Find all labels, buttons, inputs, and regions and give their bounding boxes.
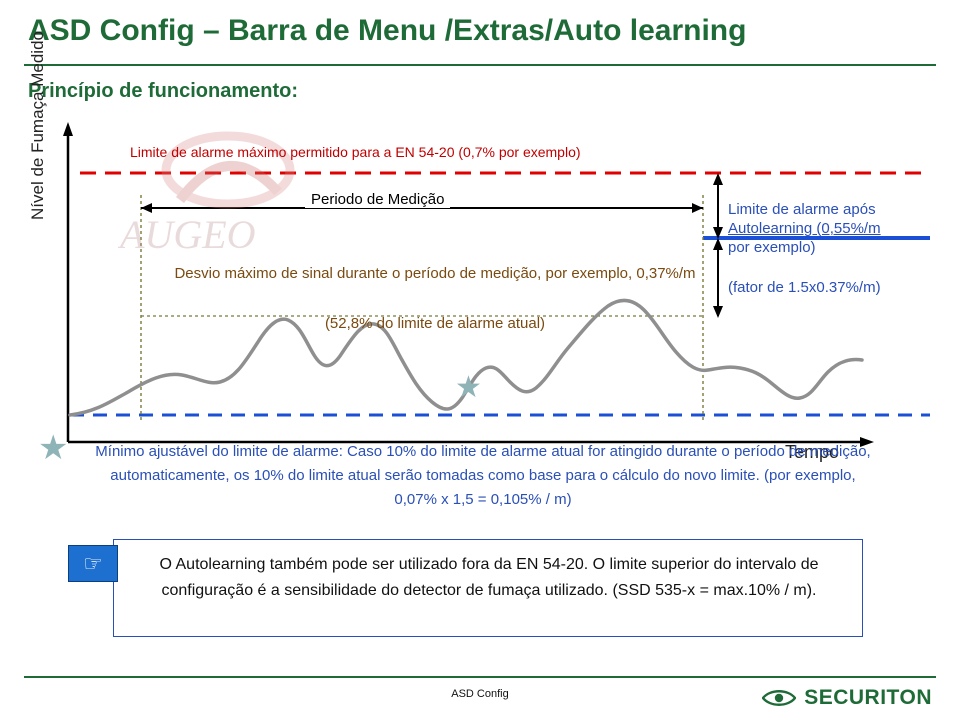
brand-logo: SECURITON xyxy=(762,686,932,710)
y-axis-label: Nível de Fumaça Medido xyxy=(28,0,48,220)
star-marker-icon: ★ xyxy=(455,373,482,403)
annotation-after-line2: Autolearning (0,55%/m xyxy=(728,220,881,237)
annotation-deviation-percent: (52,8% do limite de alarme atual) xyxy=(140,315,730,332)
annotation-max-deviation: Desvio máximo de sinal durante o período… xyxy=(140,263,730,284)
annotation-minimum-adjustable-limit: Mínimo ajustável do limite de alarme: Ca… xyxy=(88,440,878,512)
annotation-after-line3: por exemplo) xyxy=(728,239,816,256)
annotation-after-line1: Limite de alarme após xyxy=(728,201,876,218)
title-divider xyxy=(24,64,936,66)
star-legend-icon: ★ xyxy=(38,431,68,465)
pointing-hand-icon: ☞ xyxy=(68,545,118,582)
principle-diagram: AUGEO Nível de Fumaça Medido xyxy=(0,120,960,540)
annotation-limit-after-autolearning: Limite de alarme após Autolearning (0,55… xyxy=(728,200,881,257)
page-title: ASD Config – Barra de Menu /Extras/Auto … xyxy=(28,14,746,48)
annotation-max-alarm-limit: Limite de alarme máximo permitido para a… xyxy=(130,144,581,160)
section-subtitle: Princípio de funcionamento: xyxy=(28,80,298,103)
note-text: O Autolearning também pode ser utilizado… xyxy=(139,552,839,604)
annotation-measurement-period: Periodo de Medição xyxy=(305,191,450,208)
eye-icon xyxy=(762,688,796,708)
brand-name: SECURITON xyxy=(804,686,932,710)
annotation-factor: (fator de 1.5x0.37%/m) xyxy=(728,279,881,296)
note-box: O Autolearning também pode ser utilizado… xyxy=(113,539,863,637)
footer-divider xyxy=(24,676,936,678)
